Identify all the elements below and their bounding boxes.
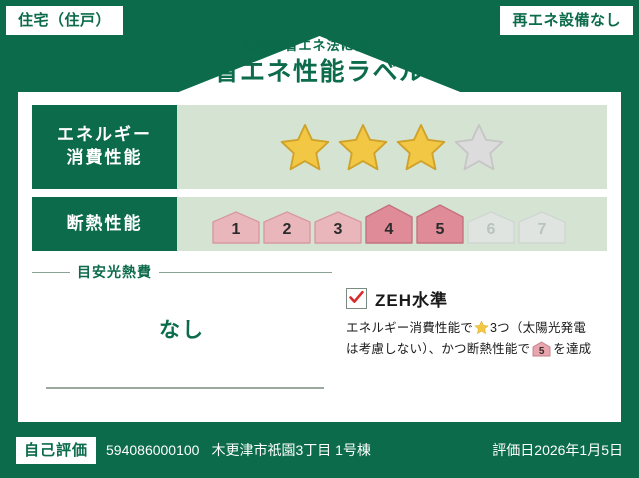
insulation-level-value: 6: [467, 221, 515, 239]
insulation-level-value: 2: [263, 221, 311, 239]
insulation-level-value: 7: [518, 221, 566, 239]
insulation-level-badge: 1: [212, 211, 260, 244]
insulation-level-value: 1: [212, 221, 260, 239]
zeh-desc-star-count: 3つ（太陽光発電: [490, 321, 586, 335]
star-rating: [279, 122, 505, 172]
energy-label-line1: エネルギー: [57, 124, 152, 147]
header-subtitle: 建築物省エネ法に基づく: [0, 38, 639, 54]
self-evaluation-badge: 自己評価: [16, 437, 96, 464]
inline-insulation-badge: 5: [532, 341, 551, 357]
building-type-tab: 住宅（住戸）: [6, 6, 123, 35]
insulation-level-value: 5: [416, 221, 464, 239]
insulation-level-value: 4: [365, 221, 413, 239]
inline-star-icon: [474, 320, 489, 335]
star-empty-icon: [453, 122, 505, 172]
insulation-level-badge: 3: [314, 211, 362, 244]
star-filled-icon: [279, 122, 331, 172]
evaluation-date: 評価日2026年1月5日: [492, 440, 623, 460]
energy-performance-value: [177, 105, 607, 189]
star-filled-icon: [395, 122, 447, 172]
inline-badge-value: 5: [532, 347, 551, 357]
ratings-section: エネルギー 消費性能 断熱性能 1234567: [32, 105, 607, 259]
utility-cost-heading: 目安光熱費: [32, 262, 332, 282]
zeh-desc-part3: を達成: [553, 342, 591, 356]
zeh-description: エネルギー消費性能で3つ（太陽光発電 は考慮しない）、かつ断熱性能で5を達成: [346, 318, 607, 359]
insulation-level-value: 3: [314, 221, 362, 239]
footer: 自己評価 594086000100 木更津市祇園3丁目 1号棟 評価日2026年…: [0, 422, 639, 478]
insulation-performance-value: 1234567: [177, 197, 607, 251]
lower-section: 目安光熱費 なし ZEH水準 エネルギー消費性能で3つ（太陽光発電 は考慮しない…: [32, 258, 607, 413]
zeh-checkbox[interactable]: [346, 288, 367, 309]
insulation-level-badge: 2: [263, 211, 311, 244]
utility-cost-heading-text: 目安光熱費: [77, 262, 152, 282]
zeh-desc-part2: は考慮しない）、かつ断熱性能で: [346, 342, 530, 356]
page-title: 省エネ性能ラベル: [0, 57, 639, 88]
insulation-level-badge: 5: [416, 204, 464, 244]
insulation-label-text: 断熱性能: [67, 213, 143, 236]
utility-cost-divider: [46, 387, 324, 389]
insulation-level-badge: 6: [467, 211, 515, 244]
insulation-level-badge: 4: [365, 204, 413, 244]
label-id: 594086000100: [106, 442, 199, 458]
renewable-equipment-tab: 再エネ設備なし: [500, 6, 633, 35]
zeh-title-row: ZEH水準: [346, 286, 607, 311]
energy-performance-row: エネルギー 消費性能: [32, 105, 607, 189]
insulation-level-badge: 7: [518, 211, 566, 244]
heading-rule-left: [32, 272, 70, 273]
header: 建築物省エネ法に基づく 省エネ性能ラベル: [0, 38, 639, 88]
star-filled-icon: [337, 122, 389, 172]
energy-performance-label: 住宅（住戸） 再エネ設備なし 建築物省エネ法に基づく 省エネ性能ラベル エネルギ…: [0, 0, 639, 478]
property-address: 木更津市祇園3丁目 1号棟: [211, 440, 370, 460]
energy-label-line2: 消費性能: [67, 147, 143, 170]
zeh-title-text: ZEH水準: [375, 286, 448, 311]
insulation-performance-row: 断熱性能 1234567: [32, 197, 607, 251]
check-icon: [348, 289, 365, 306]
utility-cost-value: なし: [32, 314, 332, 344]
insulation-performance-label: 断熱性能: [32, 197, 177, 251]
heading-rule-right: [159, 272, 332, 273]
energy-performance-label: エネルギー 消費性能: [32, 105, 177, 189]
zeh-desc-part1: エネルギー消費性能で: [346, 321, 473, 335]
insulation-level-scale: 1234567: [212, 204, 572, 244]
utility-cost-section: 目安光熱費 なし: [32, 258, 332, 413]
zeh-section: ZEH水準 エネルギー消費性能で3つ（太陽光発電 は考慮しない）、かつ断熱性能で…: [332, 258, 607, 413]
